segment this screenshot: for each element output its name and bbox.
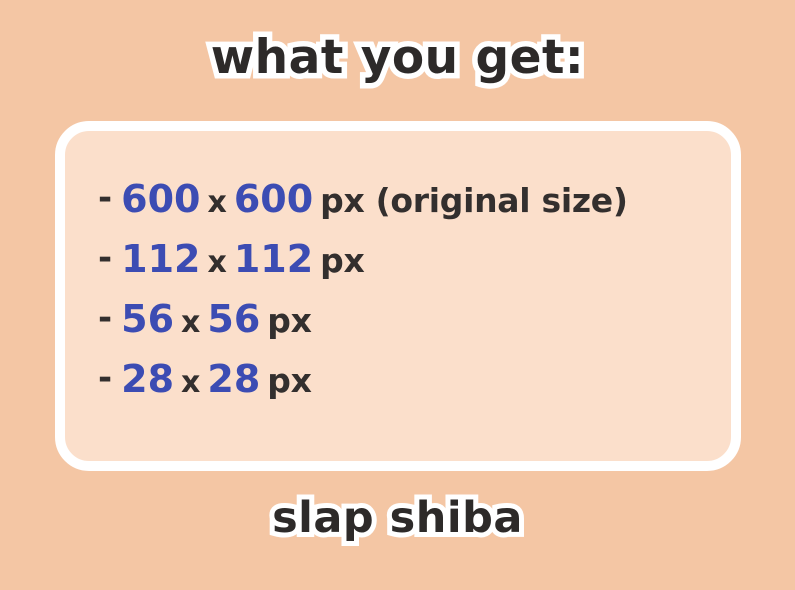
size-width-value: 28 xyxy=(121,357,174,401)
bullet-dash: - xyxy=(98,358,112,398)
size-height-value: 28 xyxy=(207,357,260,401)
size-width-value: 56 xyxy=(121,297,174,341)
size-separator: x xyxy=(207,245,226,280)
page-root: { "theme": { "background_color": "#f4c6a… xyxy=(0,0,795,590)
size-list-card: - 600 x 600 px (original size) - 112 x 1… xyxy=(55,121,741,471)
size-separator: x xyxy=(181,305,200,340)
size-suffix-label: px xyxy=(320,241,364,280)
list-item: - 28 x 28 px xyxy=(98,357,711,417)
brand-name: slap shiba xyxy=(272,495,523,542)
bullet-dash: - xyxy=(98,178,112,218)
list-item: - 112 x 112 px xyxy=(98,237,711,297)
size-height-value: 56 xyxy=(207,297,260,341)
size-separator: x xyxy=(207,185,226,220)
page-title: what you get: xyxy=(211,32,584,84)
size-separator: x xyxy=(181,365,200,400)
bullet-dash: - xyxy=(98,238,112,278)
size-list: - 600 x 600 px (original size) - 112 x 1… xyxy=(98,177,711,417)
size-height-value: 112 xyxy=(234,237,313,281)
page-title-container: what you get: xyxy=(0,32,795,84)
list-item: - 600 x 600 px (original size) xyxy=(98,177,711,237)
size-suffix-label: px xyxy=(267,301,311,340)
size-suffix-label: px xyxy=(267,361,311,400)
footer-container: slap shiba xyxy=(0,495,795,542)
bullet-dash: - xyxy=(98,298,112,338)
list-item: - 56 x 56 px xyxy=(98,297,711,357)
size-suffix-label: px (original size) xyxy=(320,181,627,220)
size-width-value: 112 xyxy=(121,237,200,281)
size-height-value: 600 xyxy=(234,177,313,221)
size-width-value: 600 xyxy=(121,177,200,221)
